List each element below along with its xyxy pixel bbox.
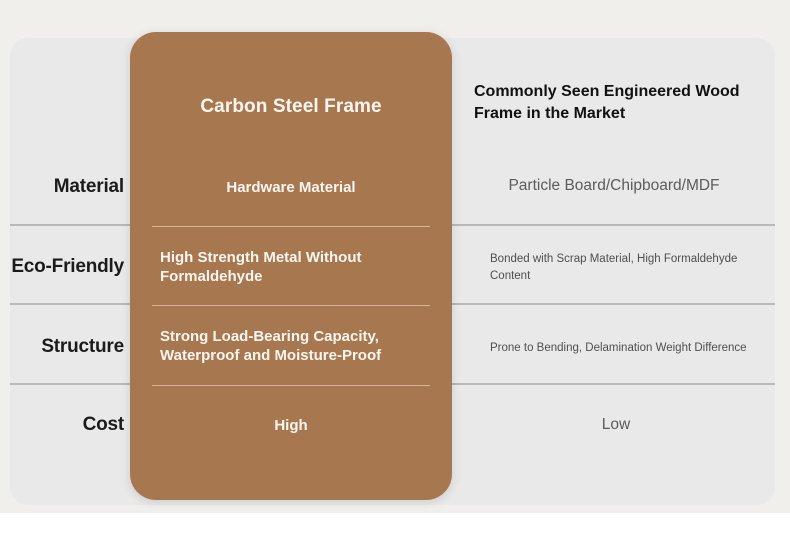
row-label-eco-friendly: Eco-Friendly — [10, 252, 128, 282]
row-competitor-structure: Prone to Bending, Delamination Weight Di… — [490, 326, 770, 370]
feature-row-divider-2 — [152, 305, 430, 306]
row-label-material: Material — [10, 172, 128, 202]
row-competitor-eco-friendly: Bonded with Scrap Material, High Formald… — [490, 246, 770, 290]
row-feature-cost: High — [130, 410, 452, 440]
row-competitor-cost: Low — [460, 410, 772, 440]
row-label-cost: Cost — [10, 410, 128, 440]
header-featured-column: Carbon Steel Frame — [140, 92, 442, 122]
feature-row-divider-1 — [152, 226, 430, 227]
row-feature-structure: Strong Load-Bearing Capacity, Waterproof… — [160, 318, 450, 374]
feature-row-divider-3 — [152, 385, 430, 386]
row-label-structure: Structure — [10, 332, 128, 362]
row-feature-eco-friendly: High Strength Metal Without Formaldehyde — [160, 240, 450, 294]
row-competitor-material: Particle Board/Chipboard/MDF — [458, 171, 770, 201]
row-feature-material: Hardware Material — [140, 172, 442, 202]
header-competitor-column: Commonly Seen Engineered Wood Frame in t… — [474, 78, 774, 128]
comparison-table-screenshot: Carbon Steel Frame Commonly Seen Enginee… — [0, 0, 790, 542]
